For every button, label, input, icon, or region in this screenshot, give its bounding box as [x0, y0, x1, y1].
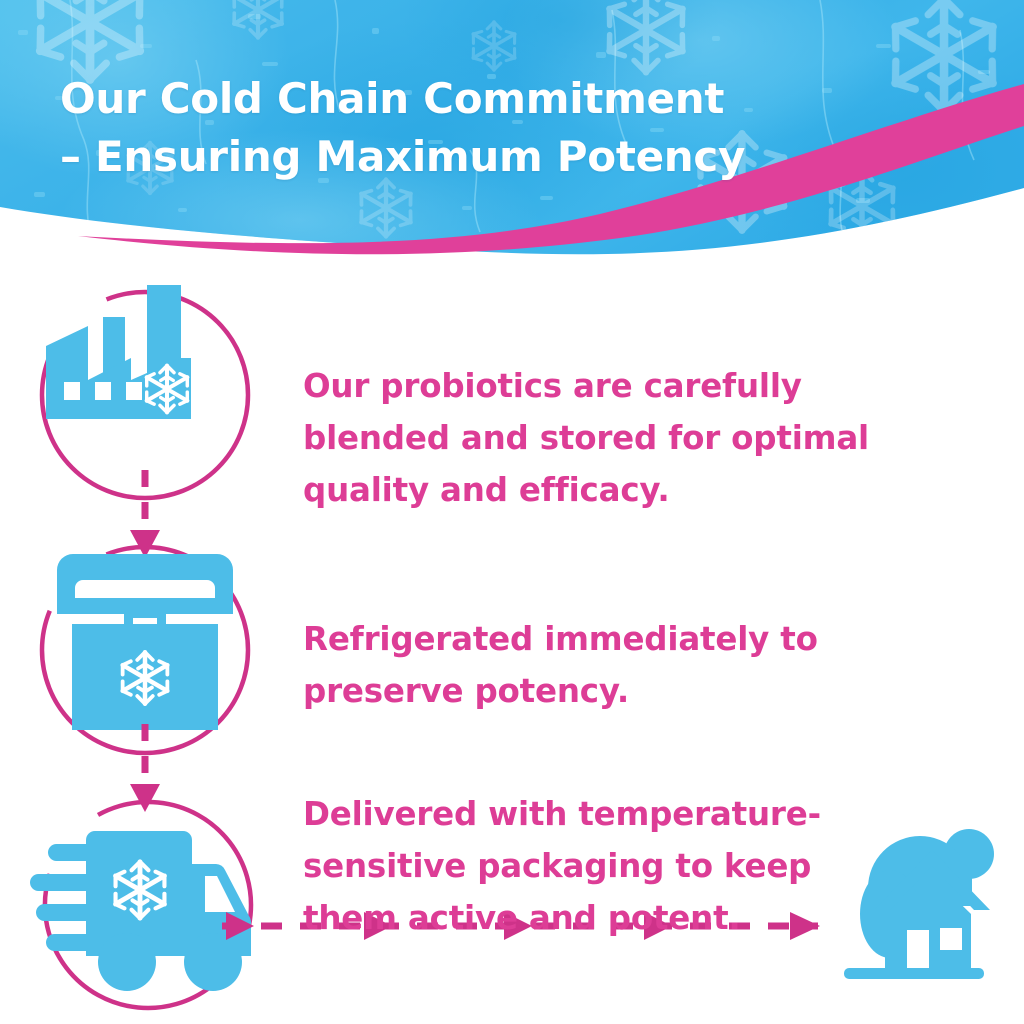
connector-arrow-2 [130, 724, 160, 812]
house-with-trees-icon [844, 829, 994, 979]
page-title: Our Cold Chain Commitment – Ensuring Max… [60, 70, 880, 186]
step-1-group[interactable] [42, 285, 248, 498]
header-banner: Our Cold Chain Commitment – Ensuring Max… [0, 0, 1024, 262]
step-1-description: Our probiotics are carefully blended and… [303, 360, 903, 516]
infographic-canvas: Our Cold Chain Commitment – Ensuring Max… [0, 0, 1024, 1024]
step-3-group[interactable] [21, 778, 276, 1024]
step-2-description: Refrigerated immediately to preserve pot… [303, 613, 883, 717]
step-3-description: Delivered with temperature-sensitive pac… [303, 788, 863, 944]
title-line-1: Our Cold Chain Commitment [60, 74, 724, 123]
title-line-2: – Ensuring Maximum Potency [60, 128, 880, 186]
step-2-group[interactable] [42, 547, 248, 753]
